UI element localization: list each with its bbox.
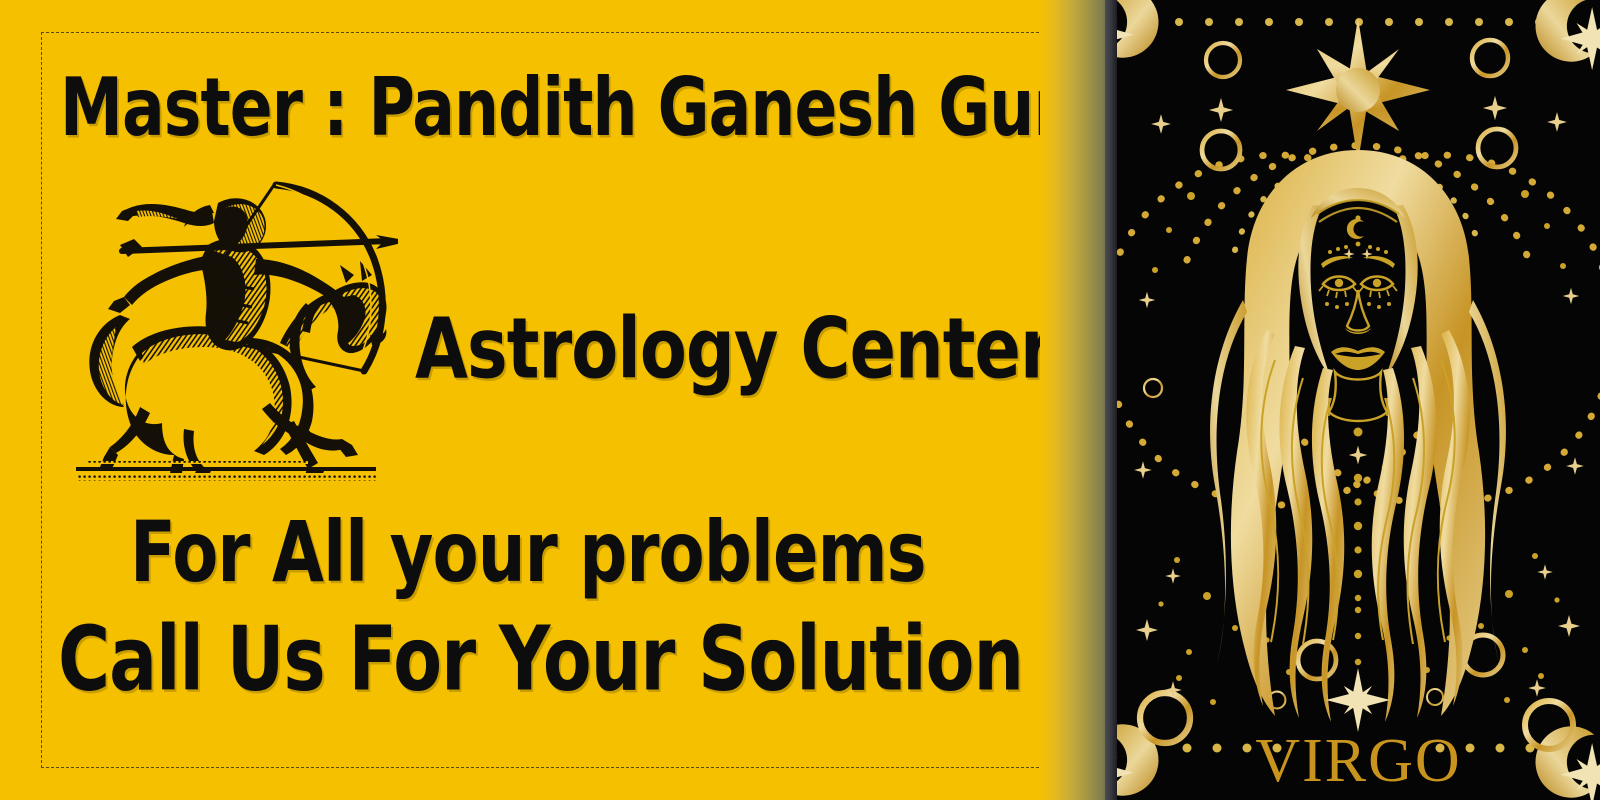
panel-seam-divider (1105, 0, 1117, 800)
subtitle-astrology-center: Astrology Center (415, 300, 1053, 397)
virgo-illustration-icon (1117, 0, 1600, 800)
tagline-problems: For All your problems (130, 503, 926, 601)
gradient-fade-strip (1040, 0, 1108, 800)
zodiac-sign-label: VIRGO (1117, 730, 1600, 792)
virgo-zodiac-card: VIRGO (1117, 0, 1600, 800)
call-to-action-text: Call Us For Your Solution (58, 608, 1023, 711)
left-yellow-panel: Master : Pandith Ganesh Guru Ji Astrolog… (0, 0, 1118, 800)
page-title-master: Master : Pandith Ganesh Guru Ji (60, 62, 1172, 155)
sagittarius-emblem-icon (58, 155, 398, 485)
astrology-banner: Master : Pandith Ganesh Guru Ji Astrolog… (0, 0, 1600, 800)
